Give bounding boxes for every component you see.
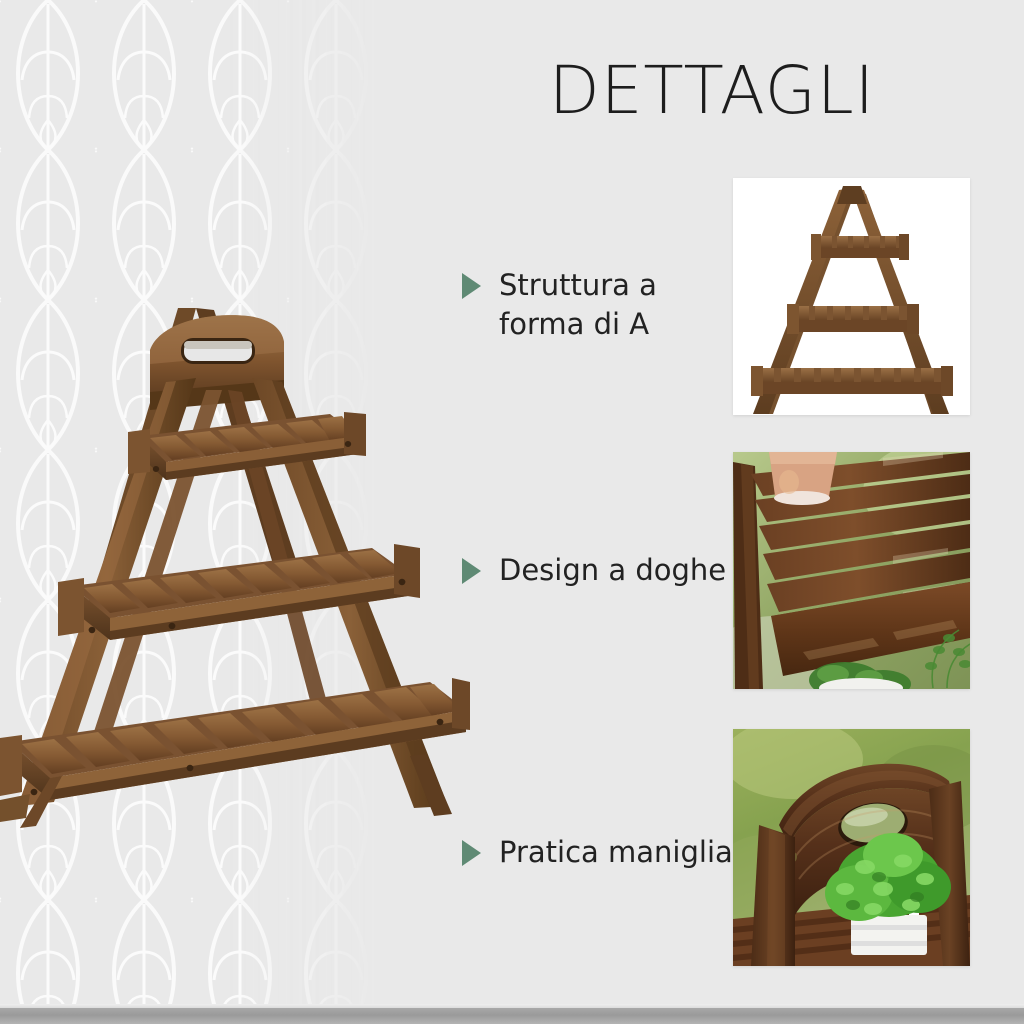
- thumbnail-a-frame-shape: [733, 178, 970, 415]
- feature-label: Design a doghe: [499, 551, 726, 590]
- triangle-bullet-icon: [462, 273, 481, 299]
- triangle-bullet-icon: [462, 558, 481, 584]
- feature-item-slat-design: Design a doghe: [462, 551, 726, 590]
- triangle-bullet-icon: [462, 840, 481, 866]
- page-title: DETTAGLI: [452, 55, 972, 128]
- feature-label: Struttura a forma di A: [499, 266, 657, 344]
- feature-label: Pratica maniglia: [499, 833, 733, 872]
- product-detail-page: DETTAGLI Struttura a forma di A Design a…: [0, 0, 1024, 1024]
- hero-product-image: [0, 286, 470, 846]
- thumbnail-slat-design: [733, 452, 970, 689]
- feature-item-a-frame: Struttura a forma di A: [462, 266, 657, 344]
- thumbnail-handle-closeup: [733, 729, 970, 966]
- floor-strip: [0, 1008, 1024, 1024]
- feature-item-handle: Pratica maniglia: [462, 833, 733, 872]
